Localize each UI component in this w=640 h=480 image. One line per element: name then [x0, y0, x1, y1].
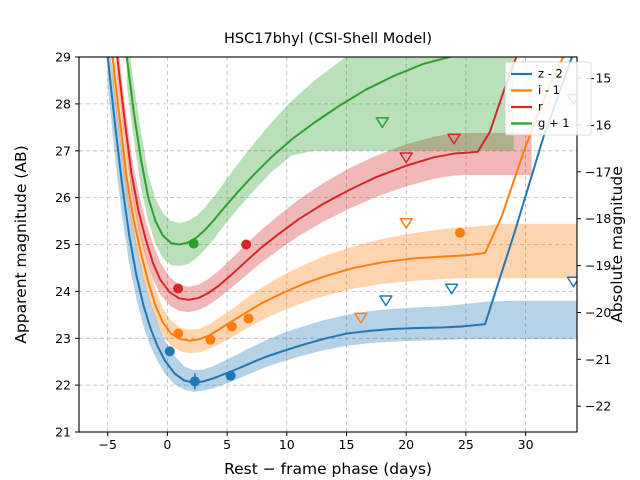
chart-svg: −5051015202530212223242526272829−22−21−2… — [0, 0, 640, 480]
ytick-label-8: 29 — [55, 50, 71, 65]
y-axis-label-right: Absolute magnitude — [608, 166, 626, 323]
ytick-label-0: 21 — [55, 425, 71, 440]
xtick-label-5: 20 — [398, 437, 414, 452]
legend-label-2: r — [538, 100, 543, 114]
xtick-label-1: 0 — [163, 437, 171, 452]
data-point-2-1 — [241, 240, 251, 250]
xtick-label-2: 5 — [223, 437, 231, 452]
data-point-1-2 — [227, 322, 237, 332]
legend-label-3: g + 1 — [538, 116, 570, 130]
data-point-0-2 — [226, 371, 236, 381]
data-point-1-4 — [455, 228, 465, 238]
xtick-label-3: 10 — [279, 437, 295, 452]
xtick-label-4: 15 — [339, 437, 355, 452]
data-point-0-0 — [165, 346, 175, 356]
x-axis-label: Rest − frame phase (days) — [224, 460, 432, 478]
ytick-right-label-0: −22 — [585, 399, 611, 414]
ytick-label-4: 25 — [55, 237, 71, 252]
ytick-label-3: 24 — [55, 284, 71, 299]
data-point-0-1 — [190, 376, 200, 386]
xtick-label-7: 30 — [518, 437, 534, 452]
ytick-label-1: 22 — [55, 378, 71, 393]
data-point-1-0 — [173, 329, 183, 339]
ytick-right-label-1: −21 — [585, 352, 611, 367]
legend-label-1: i - 1 — [538, 83, 560, 97]
ytick-label-6: 27 — [55, 143, 71, 158]
y-axis-label: Apparent magnitude (AB) — [12, 145, 30, 343]
figure-canvas: −5051015202530212223242526272829−22−21−2… — [0, 0, 640, 480]
xtick-label-6: 25 — [458, 437, 474, 452]
data-point-1-1 — [205, 335, 215, 345]
data-point-2-0 — [173, 284, 183, 294]
legend-label-0: z - 2 — [538, 67, 563, 81]
xtick-label-0: −5 — [98, 437, 116, 452]
ytick-label-2: 23 — [55, 331, 71, 346]
data-point-3-0 — [189, 239, 199, 249]
chart-plot: −5051015202530212223242526272829−22−21−2… — [0, 0, 640, 480]
ytick-label-5: 26 — [55, 190, 71, 205]
data-point-1-3 — [244, 314, 254, 324]
ytick-label-7: 28 — [55, 96, 71, 111]
chart-title: HSC17bhyl (CSI-Shell Model) — [224, 31, 432, 47]
